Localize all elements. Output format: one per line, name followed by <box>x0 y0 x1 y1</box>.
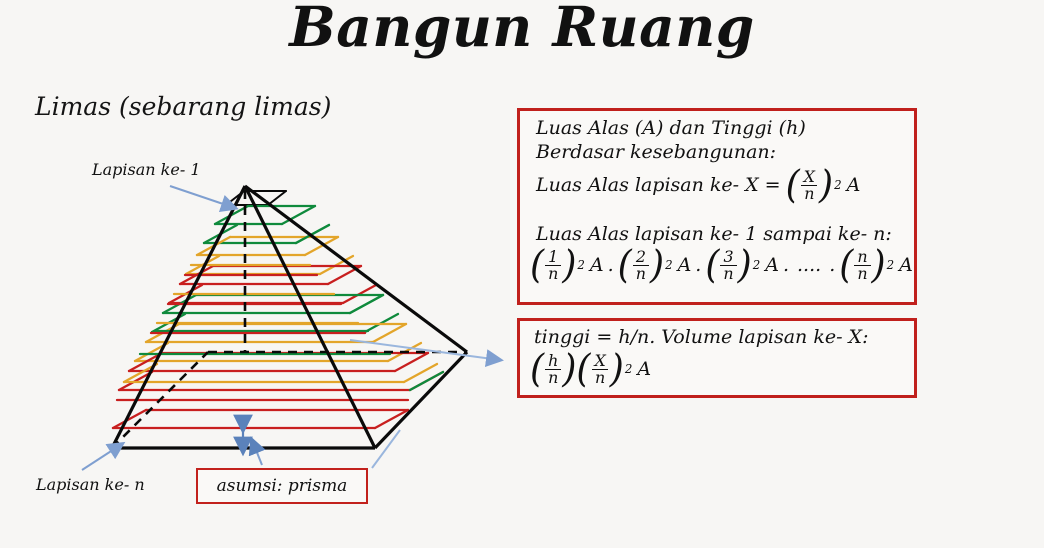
area-symbol: A <box>899 254 913 276</box>
area-symbol: A <box>590 254 604 276</box>
formula-series-terms: ( 1 n ) 2 A . ( 2 n ) 2 A <box>530 249 913 282</box>
frac-denominator: n <box>592 369 608 386</box>
exponent: 2 <box>665 260 673 272</box>
frac-numerator: 3 <box>720 249 736 265</box>
frac-numerator: 2 <box>633 249 649 265</box>
series-term-n: ( n n ) 2 A <box>839 249 913 282</box>
fraction-x-over-n: ( X n ) 2 <box>786 169 842 202</box>
frac-denominator: n <box>801 185 817 202</box>
arrow-to-layer-thickness <box>252 440 262 465</box>
exponent: 2 <box>753 260 761 272</box>
formula-area-layer-x-prefix: Luas Alas lapisan ke- X = <box>536 174 781 196</box>
series-ellipsis: .... <box>793 254 825 276</box>
exponent: 2 <box>625 364 633 376</box>
arrow-to-layer-n <box>82 444 122 470</box>
fraction-x-over-n: ( X n ) 2 <box>576 353 632 386</box>
series-separator: . <box>604 254 618 276</box>
series-term-2: ( 2 n ) 2 A <box>618 249 692 282</box>
frac-numerator: X <box>591 353 608 369</box>
formula-box-volume: tinggi = h/n. Volume lapisan ke- X: ( h … <box>517 318 917 398</box>
assumption-label: asumsi: prisma <box>217 476 348 496</box>
slide-canvas: Bangun Ruang Limas (sebarang limas) <box>0 0 1044 548</box>
area-symbol: A <box>637 358 651 380</box>
frac-denominator: n <box>720 265 736 282</box>
series-separator: . <box>691 254 705 276</box>
exponent: 2 <box>577 260 585 272</box>
frac-denominator: n <box>633 265 649 282</box>
pyramid-layers <box>113 191 443 428</box>
frac-denominator: n <box>545 369 561 386</box>
series-separator: . <box>779 254 793 276</box>
label-layer-last: Lapisan ke- n <box>36 475 145 494</box>
formula-line-area-title: Luas Alas (A) dan Tinggi (h) <box>536 117 806 139</box>
area-symbol: A <box>678 254 692 276</box>
formula-line-similarity: Berdasar kesebangunan: <box>536 141 776 163</box>
frac-numerator: h <box>545 353 561 369</box>
formula-line-height-volume: tinggi = h/n. Volume lapisan ke- X: <box>534 326 868 348</box>
label-layer-first: Lapisan ke- 1 <box>92 160 201 179</box>
formula-line-series-title: Luas Alas lapisan ke- 1 sampai ke- n: <box>536 223 892 245</box>
frac-numerator: 1 <box>545 249 561 265</box>
arrow-to-layer-1 <box>170 186 235 208</box>
area-symbol: A <box>765 254 779 276</box>
area-symbol: A <box>847 174 861 196</box>
series-term-1: ( 1 n ) 2 A <box>530 249 604 282</box>
frac-numerator: X <box>801 169 818 185</box>
series-separator: . <box>825 254 839 276</box>
frac-numerator: n <box>854 249 870 265</box>
series-term-3: ( 3 n ) 2 A <box>705 249 779 282</box>
pyramid-outline <box>112 186 467 448</box>
frac-denominator: n <box>545 265 561 282</box>
formula-box-area: Luas Alas (A) dan Tinggi (h) Berdasar ke… <box>517 108 917 305</box>
formula-volume-expression: ( h n ) ( X n ) 2 A <box>530 353 651 386</box>
frac-denominator: n <box>854 265 870 282</box>
exponent: 2 <box>887 260 895 272</box>
fraction-h-over-n: ( h n ) <box>530 353 576 386</box>
arrow-to-volume-box <box>350 340 500 360</box>
exponent: 2 <box>834 180 842 192</box>
formula-area-layer-x: Luas Alas lapisan ke- X = ( X n ) 2 A <box>536 169 860 202</box>
assumption-box: asumsi: prisma <box>196 468 368 504</box>
